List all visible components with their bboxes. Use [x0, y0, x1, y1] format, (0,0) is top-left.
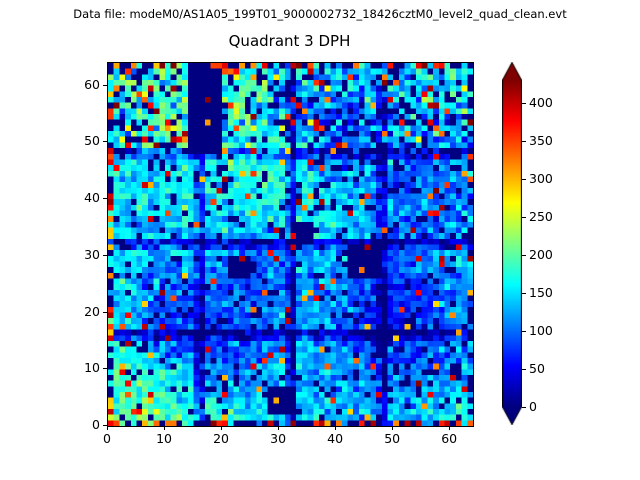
x-tick-label: 20	[213, 432, 229, 446]
colorbar-tick-mark	[522, 293, 526, 294]
data-file-suptitle: Data file: modeM0/AS1A05_199T01_90000027…	[0, 7, 640, 21]
page-title: Quadrant 3 DPH	[107, 31, 472, 51]
x-tick-mark	[107, 426, 108, 430]
y-tick-label: 20	[84, 305, 100, 319]
heatmap-axes[interactable]	[107, 62, 474, 427]
figure-canvas: Data file: modeM0/AS1A05_199T01_90000027…	[0, 0, 640, 480]
y-tick-mark	[103, 312, 107, 313]
colorbar-tick-label: 350	[529, 134, 553, 148]
colorbar-tick-label: 200	[529, 248, 553, 262]
colorbar[interactable]	[502, 62, 522, 425]
x-tick-label: 30	[270, 432, 286, 446]
colorbar-tick-mark	[522, 141, 526, 142]
x-tick-label: 60	[441, 432, 457, 446]
x-tick-label: 50	[384, 432, 400, 446]
colorbar-tick-label: 50	[529, 362, 545, 376]
y-tick-mark	[103, 255, 107, 256]
heatmap-image[interactable]	[108, 63, 473, 426]
y-tick-mark	[103, 368, 107, 369]
colorbar-tick-label: 250	[529, 210, 553, 224]
x-tick-mark	[164, 426, 165, 430]
y-tick-mark	[103, 85, 107, 86]
x-tick-mark	[278, 426, 279, 430]
colorbar-tick-mark	[522, 179, 526, 180]
y-tick-label: 60	[84, 78, 100, 92]
colorbar-tick-label: 150	[529, 286, 553, 300]
colorbar-tick-mark	[522, 255, 526, 256]
y-tick-label: 50	[84, 134, 100, 148]
x-tick-label: 0	[103, 432, 111, 446]
colorbar-tick-label: 400	[529, 96, 553, 110]
colorbar-tick-label: 0	[529, 400, 537, 414]
x-tick-mark	[335, 426, 336, 430]
y-tick-mark	[103, 141, 107, 142]
x-tick-mark	[449, 426, 450, 430]
colorbar-tick-label: 300	[529, 172, 553, 186]
colorbar-tick-mark	[522, 331, 526, 332]
y-tick-mark	[103, 198, 107, 199]
colorbar-gradient[interactable]	[502, 62, 522, 425]
y-tick-label: 30	[84, 248, 100, 262]
colorbar-tick-mark	[522, 407, 526, 408]
colorbar-tick-mark	[522, 103, 526, 104]
x-tick-label: 40	[327, 432, 343, 446]
colorbar-tick-label: 100	[529, 324, 553, 338]
y-tick-label: 40	[84, 191, 100, 205]
x-tick-mark	[392, 426, 393, 430]
x-tick-label: 10	[156, 432, 172, 446]
colorbar-tick-mark	[522, 217, 526, 218]
y-tick-label: 10	[84, 361, 100, 375]
colorbar-tick-mark	[522, 369, 526, 370]
y-tick-label: 0	[92, 418, 100, 432]
y-tick-mark	[103, 425, 107, 426]
x-tick-mark	[221, 426, 222, 430]
